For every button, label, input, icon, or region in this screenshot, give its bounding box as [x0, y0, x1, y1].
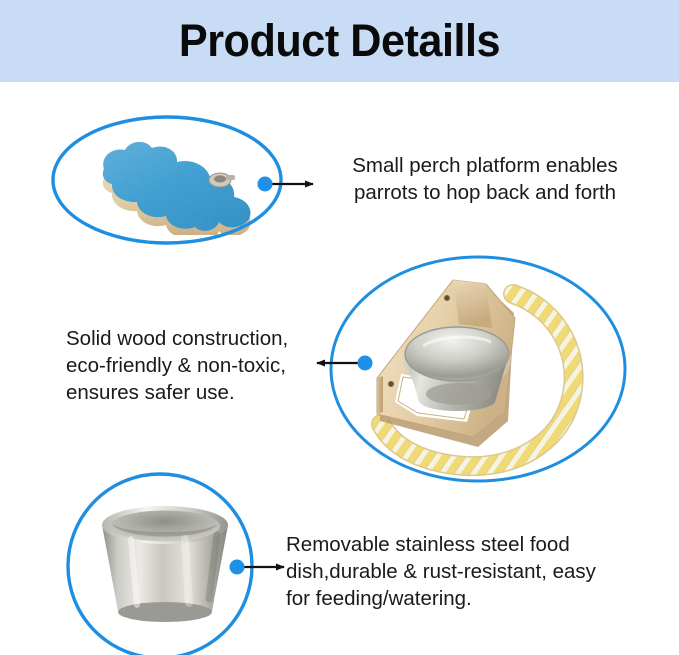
hanger-hardware — [209, 173, 235, 187]
perch-platform-photo — [70, 135, 270, 235]
callout-text-perch: Small perch platform enables parrots to … — [329, 152, 641, 206]
product-details-infographic: Product Detaills — [0, 0, 679, 655]
perch-platform-illustration — [70, 135, 270, 235]
wooden-stand-illustration — [355, 262, 605, 477]
steel-cup-photo — [85, 495, 245, 630]
steel-cup-illustration — [85, 495, 245, 630]
callout-text-dish: Removable stainless steel food dish,dura… — [286, 531, 636, 612]
steel-bowl-inset — [403, 326, 511, 411]
wooden-stand-photo — [355, 262, 605, 477]
callout-text-wood: Solid wood construction, eco-friendly & … — [66, 325, 316, 406]
page-title: Product Detaills — [14, 14, 666, 68]
